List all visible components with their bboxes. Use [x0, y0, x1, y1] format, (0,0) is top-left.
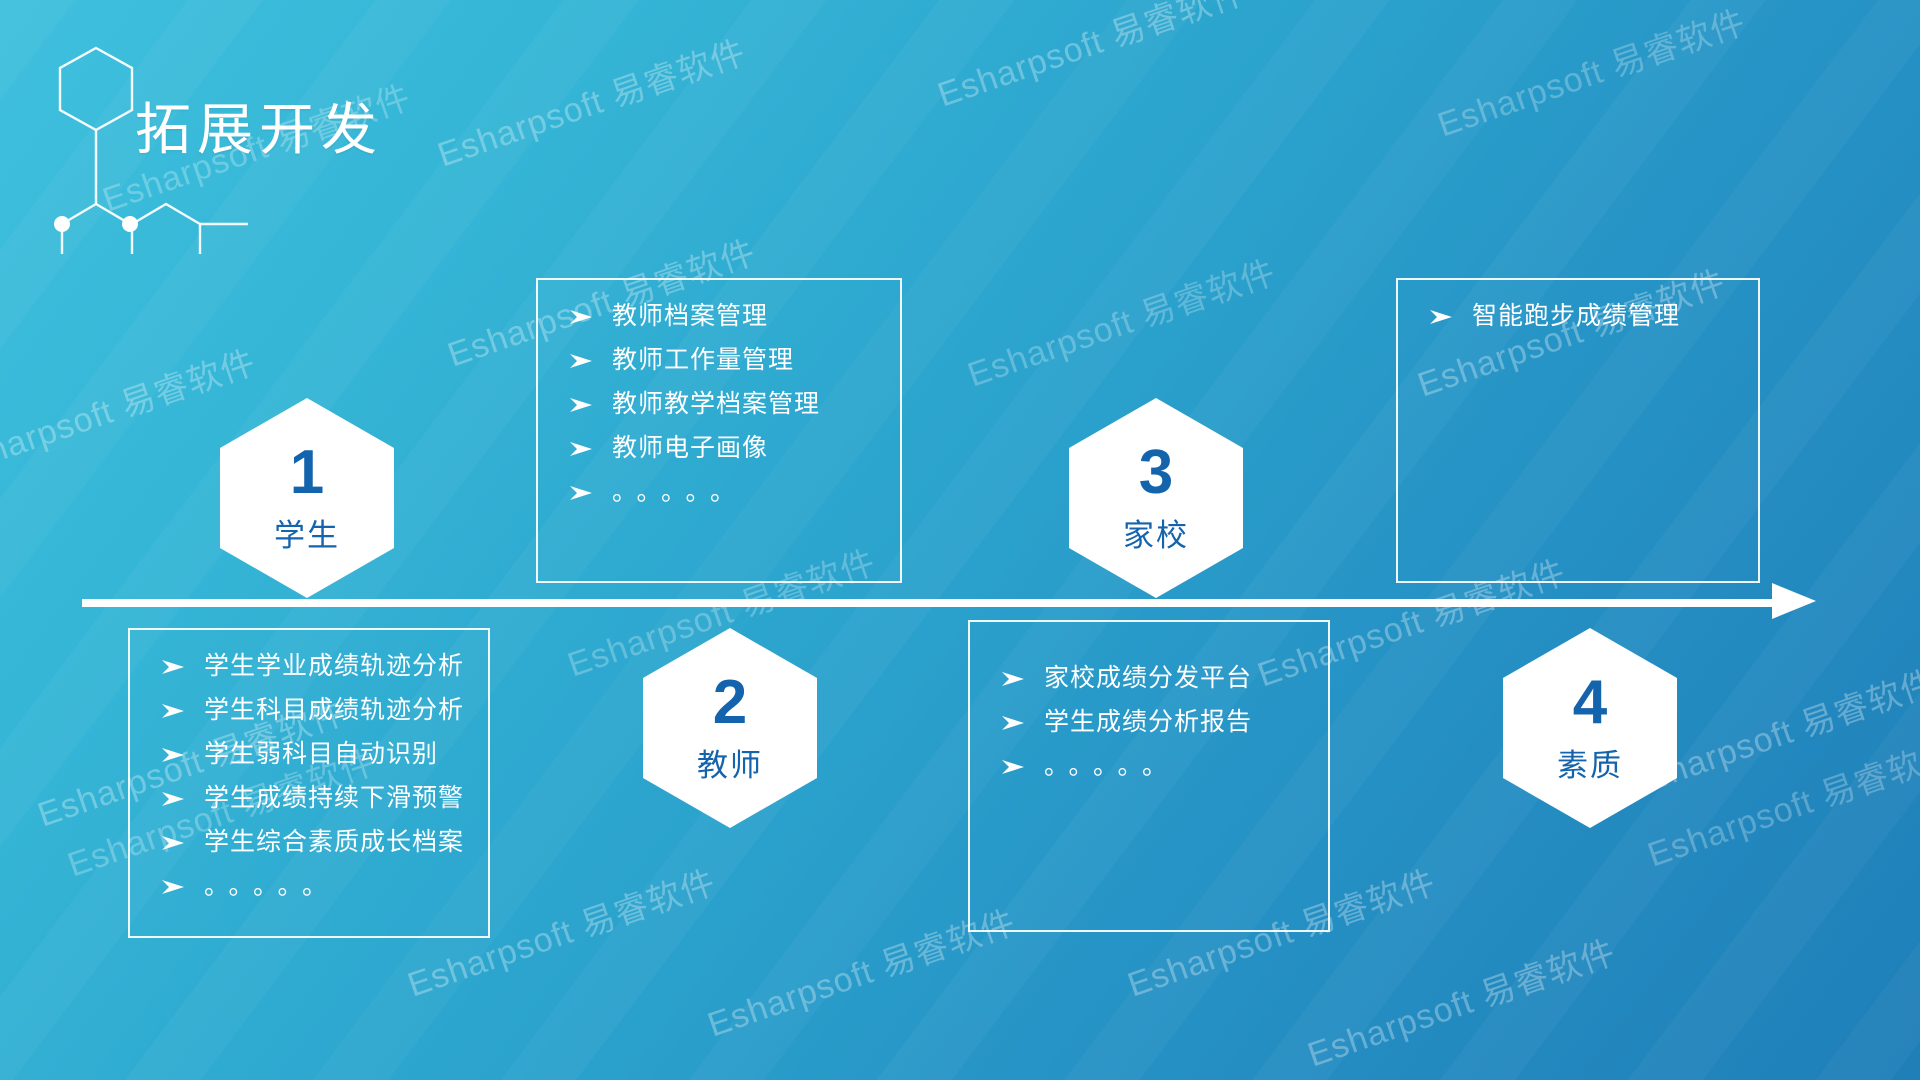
step-number: 4	[1573, 672, 1607, 734]
step-caption: 家校	[1123, 510, 1189, 555]
step-caption: 学生	[274, 510, 340, 555]
list-item: 家校成绩分发平台	[996, 666, 1302, 691]
list-item-label: 学生成绩持续下滑预警	[204, 786, 464, 811]
list-item: 学生综合素质成长档案	[156, 830, 462, 855]
list-item-label: 教师档案管理	[612, 304, 768, 329]
step-hexagon-2[interactable]: 2 教师	[643, 628, 817, 828]
arrow-bullet-icon	[564, 481, 598, 505]
list-item-label: 。。。。。	[1044, 754, 1179, 779]
arrow-bullet-icon	[996, 711, 1030, 735]
watermark-text: Esharpsoft 易睿软件	[960, 245, 1281, 396]
step-caption: 素质	[1557, 740, 1623, 785]
arrow-bullet-icon	[1424, 305, 1458, 329]
list-item: 学生成绩持续下滑预警	[156, 786, 462, 811]
list-item: 学生成绩分析报告	[996, 710, 1302, 735]
step-hexagon-3[interactable]: 3 家校	[1069, 398, 1243, 598]
watermark-text: Esharpsoft 易睿软件	[930, 0, 1251, 116]
list-item: 学生弱科目自动识别	[156, 742, 462, 767]
list-item: 。。。。。	[564, 480, 874, 505]
list-item: 学生科目成绩轨迹分析	[156, 698, 462, 723]
arrow-bullet-icon	[156, 699, 190, 723]
list-item: 教师电子画像	[564, 436, 874, 461]
list-item: 智能跑步成绩管理	[1424, 304, 1732, 329]
arrow-bullet-icon	[156, 787, 190, 811]
list-item-label: 学生成绩分析报告	[1044, 710, 1252, 735]
feature-box-quality: 智能跑步成绩管理	[1396, 278, 1760, 583]
step-caption: 教师	[697, 740, 763, 785]
step-number: 3	[1139, 442, 1173, 504]
feature-list-home-school: 家校成绩分发平台 学生成绩分析报告 。。。。。	[996, 646, 1302, 779]
step-number: 2	[713, 672, 747, 734]
feature-list-quality: 智能跑步成绩管理	[1424, 304, 1732, 329]
timeline-axis	[82, 597, 1822, 611]
arrow-bullet-icon	[564, 349, 598, 373]
watermark-text: Esharpsoft 易睿软件	[1300, 925, 1621, 1076]
arrow-bullet-icon	[156, 831, 190, 855]
watermark-text: Esharpsoft 易睿软件	[1430, 0, 1751, 146]
feature-list-teacher: 教师档案管理 教师工作量管理 教师教学档案管理 教师电子画像 。。。。。	[564, 304, 874, 505]
arrow-bullet-icon	[564, 437, 598, 461]
arrow-bullet-icon	[996, 667, 1030, 691]
list-item-label: 教师工作量管理	[612, 348, 794, 373]
timeline-bar	[82, 599, 1782, 607]
timeline-arrow-icon	[1772, 583, 1816, 619]
arrow-bullet-icon	[156, 743, 190, 767]
feature-list-student: 学生学业成绩轨迹分析 学生科目成绩轨迹分析 学生弱科目自动识别 学生成绩持续下滑…	[156, 654, 462, 899]
slide-canvas: 拓展开发 1 学生 2 教师 3 家校 4 素质 教师档案管理 教师工作量管理	[0, 0, 1920, 1080]
arrow-bullet-icon	[156, 875, 190, 899]
list-item-label: 教师电子画像	[612, 436, 768, 461]
list-item-label: 。。。。。	[204, 874, 339, 899]
list-item: 教师教学档案管理	[564, 392, 874, 417]
list-item: 。。。。。	[996, 754, 1302, 779]
list-item-label: 学生科目成绩轨迹分析	[204, 698, 464, 723]
feature-box-home-school: 家校成绩分发平台 学生成绩分析报告 。。。。。	[968, 620, 1330, 932]
arrow-bullet-icon	[564, 305, 598, 329]
arrow-bullet-icon	[996, 755, 1030, 779]
list-item: 教师档案管理	[564, 304, 874, 329]
page-title: 拓展开发	[135, 85, 383, 166]
list-item: 教师工作量管理	[564, 348, 874, 373]
list-item-label: 学生学业成绩轨迹分析	[204, 654, 464, 679]
step-hexagon-4[interactable]: 4 素质	[1503, 628, 1677, 828]
list-item-label: 教师教学档案管理	[612, 392, 820, 417]
list-item-label: 学生弱科目自动识别	[204, 742, 438, 767]
list-item: 学生学业成绩轨迹分析	[156, 654, 462, 679]
watermark-text: Esharpsoft 易睿软件	[430, 25, 751, 176]
arrow-bullet-icon	[156, 655, 190, 679]
list-item-label: 家校成绩分发平台	[1044, 666, 1252, 691]
list-item-label: 。。。。。	[612, 480, 747, 505]
step-hexagon-1[interactable]: 1 学生	[220, 398, 394, 598]
list-item: 。。。。。	[156, 874, 462, 899]
feature-box-teacher: 教师档案管理 教师工作量管理 教师教学档案管理 教师电子画像 。。。。。	[536, 278, 902, 583]
arrow-bullet-icon	[564, 393, 598, 417]
list-item-label: 学生综合素质成长档案	[204, 830, 464, 855]
step-number: 1	[290, 442, 324, 504]
feature-box-student: 学生学业成绩轨迹分析 学生科目成绩轨迹分析 学生弱科目自动识别 学生成绩持续下滑…	[128, 628, 490, 938]
list-item-label: 智能跑步成绩管理	[1472, 304, 1680, 329]
watermark-text: Esharpsoft 易睿软件	[1640, 725, 1920, 876]
